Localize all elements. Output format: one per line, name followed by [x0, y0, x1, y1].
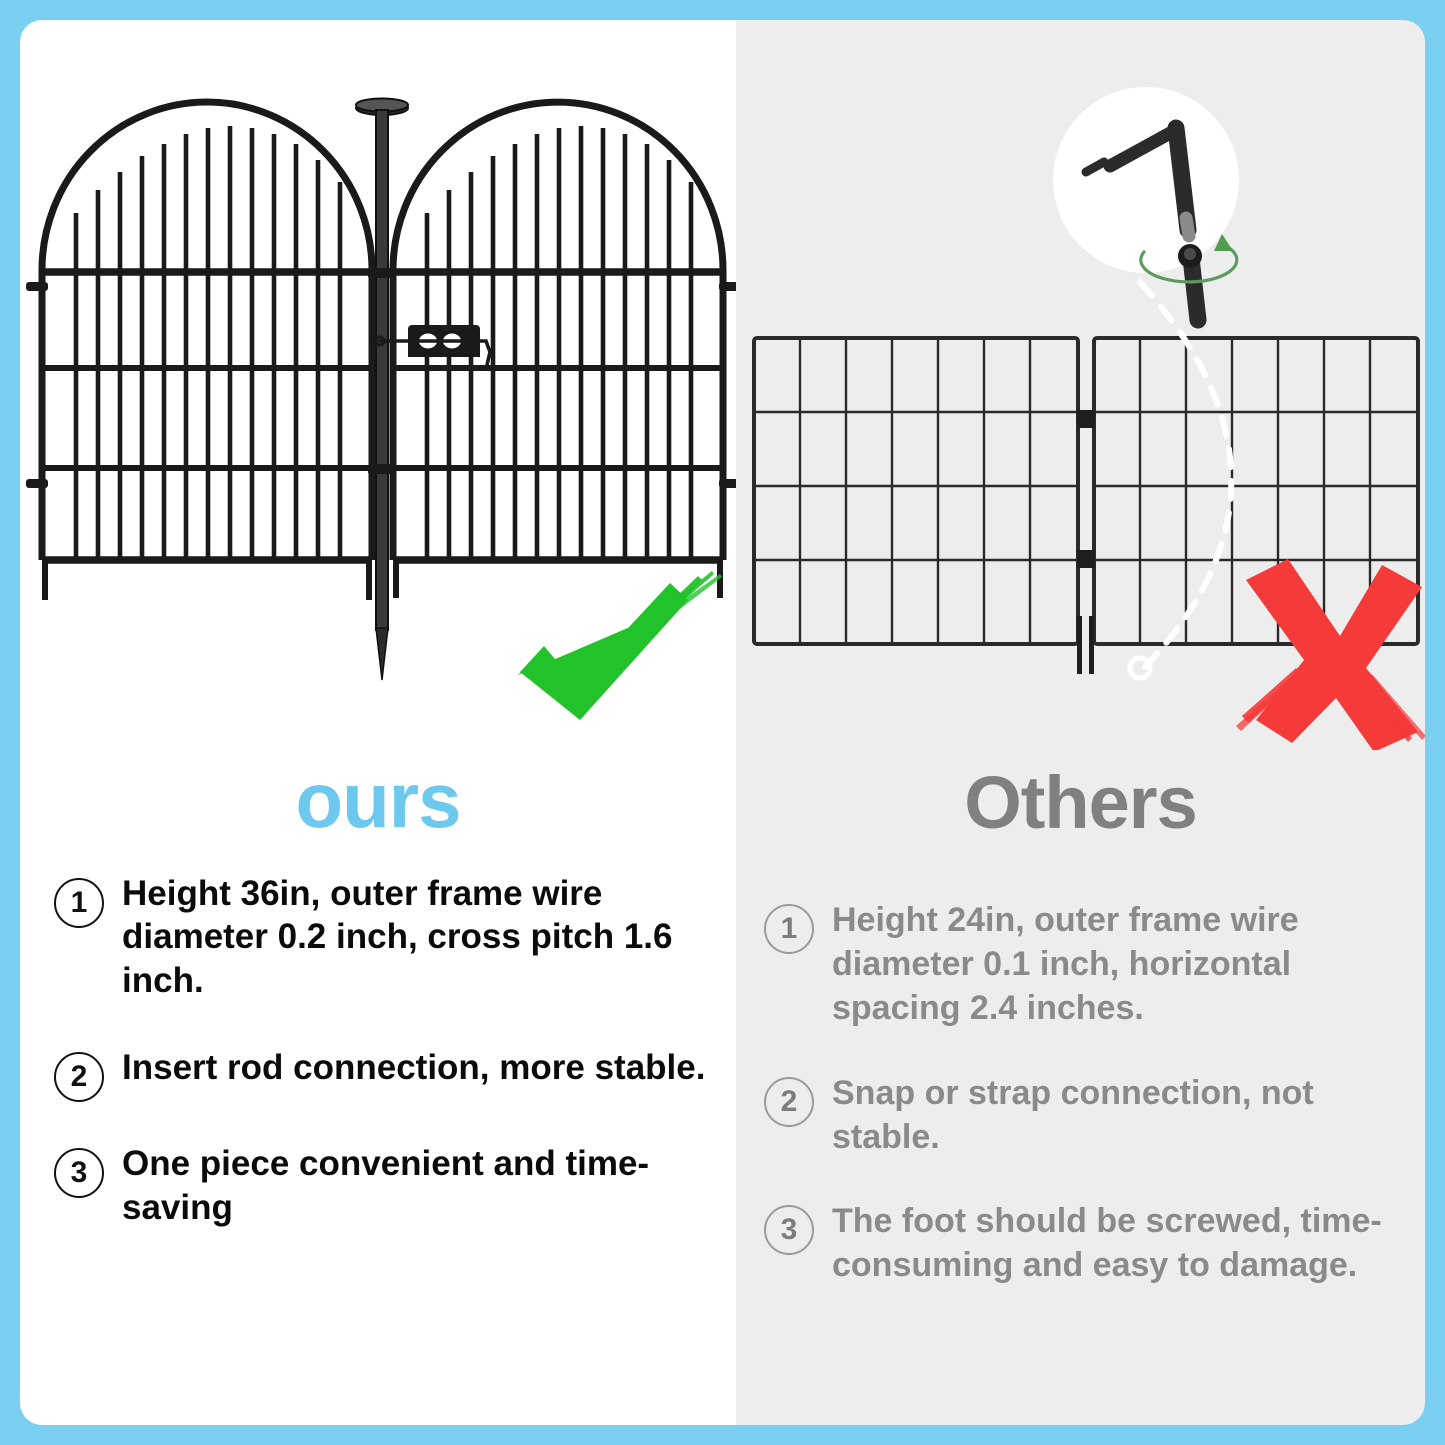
ours-bullet-3-badge: 3 — [54, 1148, 104, 1198]
others-fence-illustration — [736, 20, 1425, 750]
green-check-icon — [518, 571, 722, 720]
ours-bullet-1: 1 Height 36in, outer frame wire diameter… — [54, 872, 722, 1002]
others-bullet-1: 1 Height 24in, outer frame wire diameter… — [764, 898, 1395, 1031]
others-bullet-1-badge: 1 — [764, 904, 814, 954]
others-bullet-1-text: Height 24in, outer frame wire diameter 0… — [832, 898, 1395, 1031]
ours-bullet-1-text: Height 36in, outer frame wire diameter 0… — [122, 872, 722, 1002]
ours-bullet-1-badge: 1 — [54, 878, 104, 928]
ours-heading: ours — [20, 755, 736, 846]
ours-bullet-3: 3 One piece convenient and time-saving — [54, 1142, 722, 1229]
others-bullet-2-text: Snap or strap connection, not stable. — [832, 1071, 1395, 1159]
others-left-grid-panel — [754, 338, 1078, 644]
ours-bullet-2-text: Insert rod connection, more stable. — [122, 1046, 705, 1089]
ours-bullet-2: 2 Insert rod connection, more stable. — [54, 1046, 722, 1102]
ours-insert-rod-stake — [356, 99, 408, 681]
others-bullet-3-badge: 3 — [764, 1205, 814, 1255]
ours-panel: ours 1 Height 36in, outer frame wire dia… — [20, 20, 736, 1425]
others-bullet-list: 1 Height 24in, outer frame wire diameter… — [736, 898, 1425, 1317]
others-bullet-3-text: The foot should be screwed, time-consumi… — [832, 1199, 1395, 1287]
ours-bullet-3-text: One piece convenient and time-saving — [122, 1142, 722, 1229]
red-cross-icon — [1236, 559, 1425, 750]
ours-left-gate-panel — [42, 102, 372, 600]
others-panel: Others 1 Height 24in, outer frame wire d… — [736, 20, 1425, 1425]
panel-container: ours 1 Height 36in, outer frame wire dia… — [20, 20, 1425, 1425]
ours-bullet-2-badge: 2 — [54, 1052, 104, 1102]
ours-bullet-list: 1 Height 36in, outer frame wire diameter… — [20, 872, 736, 1259]
comparison-infographic: ours 1 Height 36in, outer frame wire dia… — [0, 0, 1445, 1445]
others-heading: Others — [736, 760, 1425, 845]
ours-fence-illustration — [20, 20, 736, 750]
others-bullet-2-badge: 2 — [764, 1077, 814, 1127]
others-bullet-2: 2 Snap or strap connection, not stable. — [764, 1071, 1395, 1159]
others-bullet-3: 3 The foot should be screwed, time-consu… — [764, 1199, 1395, 1287]
